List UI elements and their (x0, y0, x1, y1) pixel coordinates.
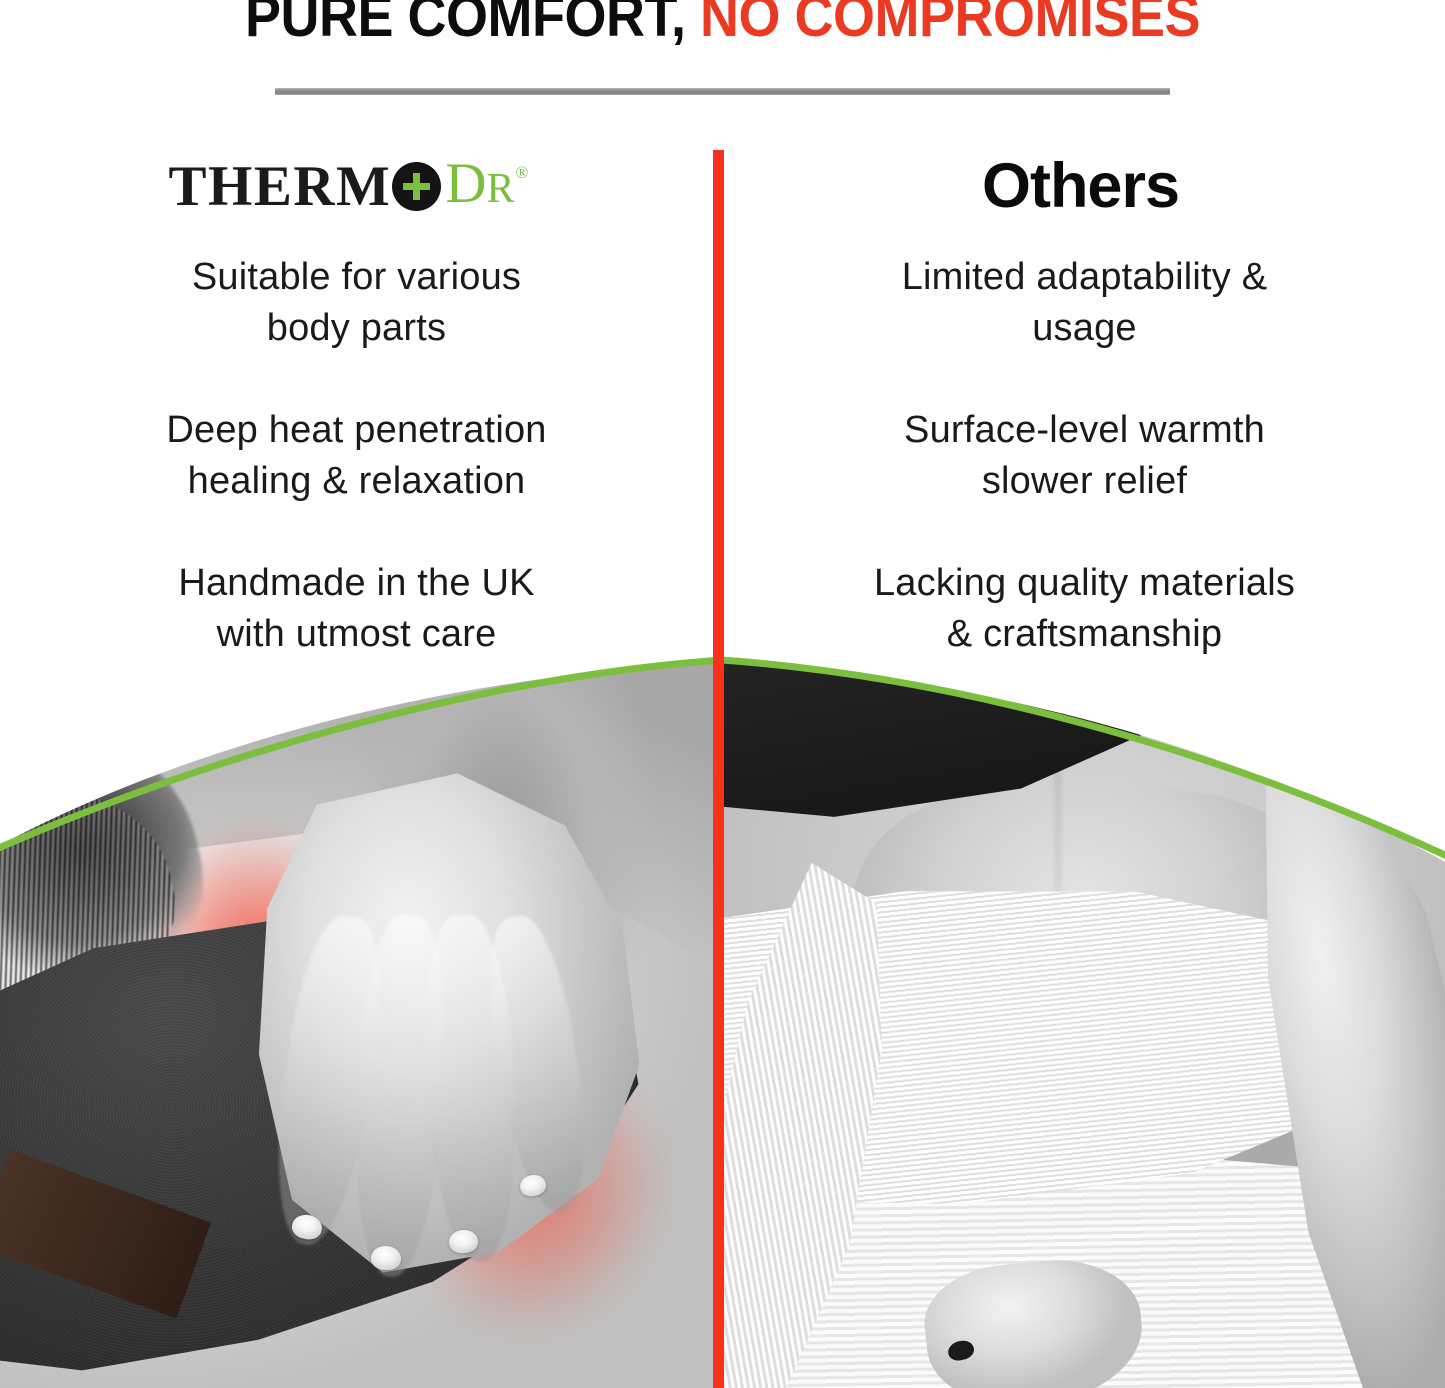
logo-letter-r: R (487, 166, 515, 212)
logo-word-thermo: THERM (169, 158, 392, 215)
headline-primary: PURE COMFORT, (245, 0, 685, 49)
others-title: Others (982, 155, 1179, 218)
others-product-photo (724, 600, 1445, 1388)
list-item: Deep heat penetration healing & relaxati… (0, 405, 713, 507)
registered-trademark-icon: ® (516, 163, 529, 183)
others-header: Others (724, 138, 1445, 234)
list-item: Surface-level warmth slower relief (724, 405, 1445, 507)
brand-logo-header: THERM DR ® (0, 138, 713, 234)
logo-letter-d: D (445, 152, 486, 215)
photo-fingernail (370, 1245, 401, 1271)
thermodr-logo: THERM DR ® (169, 155, 529, 218)
headline-accent: NO COMPROMISES (685, 0, 1199, 49)
brand-product-photo (0, 600, 713, 1388)
page-headline: PURE COMFORT, NO COMPROMISES (51, 0, 1395, 48)
plus-circle-icon (392, 162, 441, 211)
column-divider (713, 150, 724, 1388)
list-item: Suitable for various body parts (0, 252, 713, 354)
header-divider-rule (275, 88, 1170, 95)
logo-word-dr: DR (445, 155, 514, 218)
list-item: Limited adaptability & usage (724, 252, 1445, 354)
